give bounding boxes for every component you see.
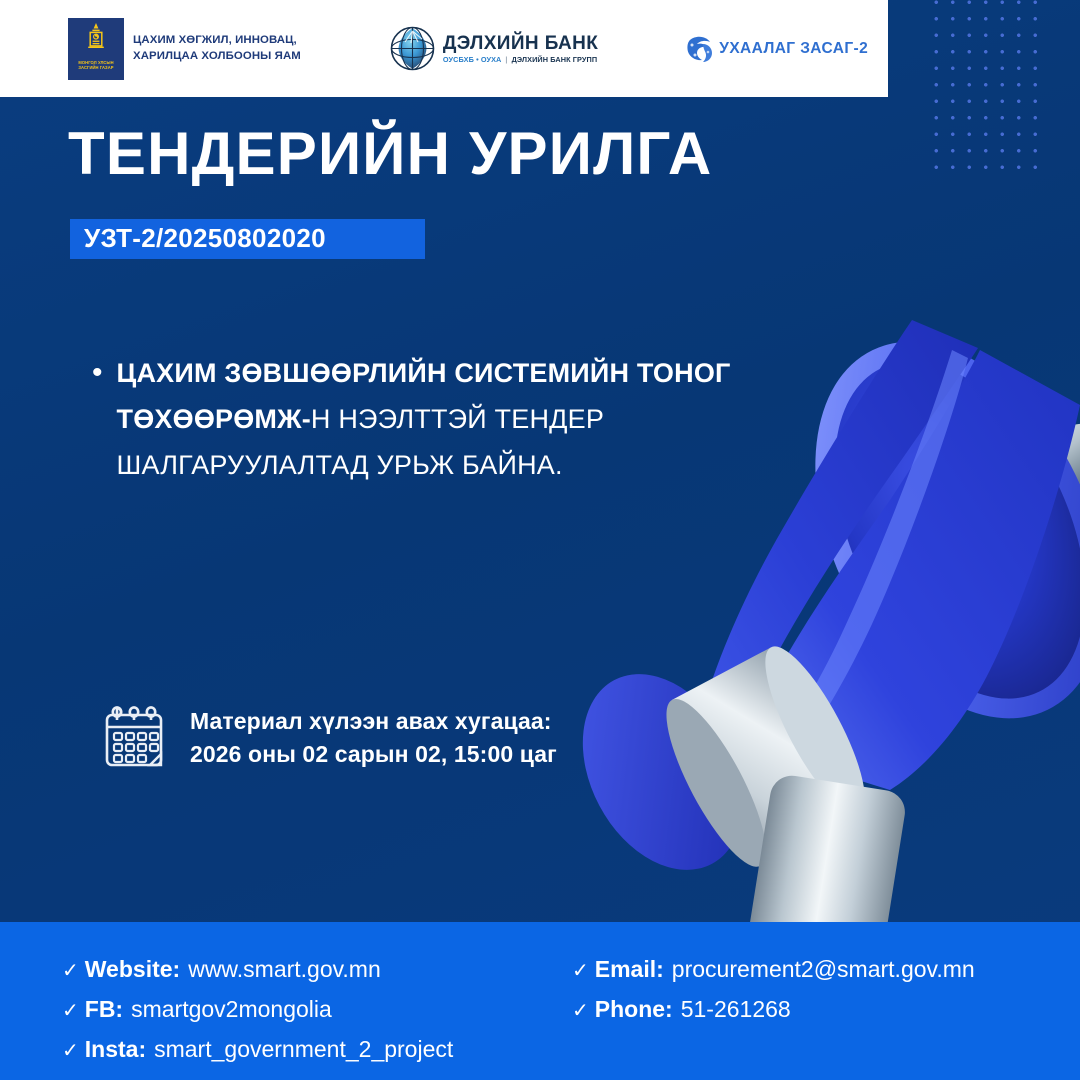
smartgov-mark-icon [682, 31, 717, 66]
tender-reference-badge: УЗТ-2/20250802020 [70, 219, 425, 259]
announcement-text: ЦАХИМ ЗӨВШӨӨРЛИЙН СИСТЕМИЙН ТОНОГ ТӨХӨӨР… [117, 350, 832, 488]
smartgov-label: УХААЛАГ ЗАСАГ-2 [719, 40, 868, 58]
email-label: Email: [595, 950, 664, 988]
check-icon: ✓ [572, 952, 589, 990]
email-value[interactable]: procurement2@smart.gov.mn [672, 950, 975, 988]
world-bank-logo: ДЭЛХИЙН БАНК ОУСБХБ • ОУХА | ДЭЛХИЙН БАН… [389, 25, 598, 72]
bullet-marker-icon: • [92, 350, 103, 488]
contact-footer: ✓ Website: www.smart.gov.mn ✓ FB: smartg… [0, 922, 1080, 1080]
footer-right-column: ✓ Email: procurement2@smart.gov.mn ✓ Pho… [572, 950, 975, 1030]
deadline-label: Материал хүлээн авах хугацаа: [190, 705, 557, 738]
world-bank-title: ДЭЛХИЙН БАНК [443, 34, 598, 54]
emblem-caption-line2: ЗАСГИЙН ГАЗАР [78, 65, 113, 70]
page-title: ТЕНДЕРИЙН УРИЛГА [68, 122, 712, 186]
soyombo-emblem-icon: МОНГОЛ УЛСЫН ЗАСГИЙН ГАЗАР [68, 18, 124, 80]
contact-row-email[interactable]: ✓ Email: procurement2@smart.gov.mn [572, 950, 975, 990]
ministry-name: ЦАХИМ ХӨГЖИЛ, ИННОВАЦ, ХАРИЛЦАА ХОЛБООНЫ… [133, 33, 301, 64]
deadline-value: 2026 оны 02 сарын 02, 15:00 цаг [190, 738, 557, 771]
emblem-caption: МОНГОЛ УЛСЫН ЗАСГИЙН ГАЗАР [78, 60, 113, 70]
facebook-value[interactable]: smartgov2mongolia [131, 990, 332, 1028]
check-icon: ✓ [62, 1032, 79, 1070]
world-bank-sub-divider: | [505, 55, 507, 64]
smart-government-2-logo: УХААЛАГ ЗАСАГ-2 [682, 31, 868, 66]
website-label: Website: [85, 950, 180, 988]
facebook-label: FB: [85, 990, 123, 1028]
world-bank-text: ДЭЛХИЙН БАНК ОУСБХБ • ОУХА | ДЭЛХИЙН БАН… [443, 34, 598, 64]
deadline-text: Материал хүлээн авах хугацаа: 2026 оны 0… [190, 705, 557, 771]
ministry-name-line2: ХАРИЛЦАА ХОЛБООНЫ ЯАМ [133, 49, 301, 65]
logo-group: МОНГОЛ УЛСЫН ЗАСГИЙН ГАЗАР ЦАХИМ ХӨГЖИЛ,… [0, 0, 868, 97]
megaphone-icon [560, 200, 1080, 940]
world-bank-subtitle: ОУСБХБ • ОУХА | ДЭЛХИЙН БАНК ГРУПП [443, 55, 598, 64]
contact-row-phone[interactable]: ✓ Phone: 51-261268 [572, 990, 975, 1030]
contact-row-facebook[interactable]: ✓ FB: smartgov2mongolia [62, 990, 453, 1030]
dot-pattern-decoration [928, 0, 1040, 176]
phone-value[interactable]: 51-261268 [681, 990, 791, 1028]
header-logo-band: МОНГОЛ УЛСЫН ЗАСГИЙН ГАЗАР ЦАХИМ ХӨГЖИЛ,… [0, 0, 888, 97]
tender-announcement-poster: МОНГОЛ УЛСЫН ЗАСГИЙН ГАЗАР ЦАХИМ ХӨГЖИЛ,… [0, 0, 1080, 1080]
ministry-name-line1: ЦАХИМ ХӨГЖИЛ, ИННОВАЦ, [133, 33, 301, 49]
phone-label: Phone: [595, 990, 673, 1028]
deadline-block: Материал хүлээн авах хугацаа: 2026 оны 0… [100, 703, 557, 773]
announcement-block: • ЦАХИМ ЗӨВШӨӨРЛИЙН СИСТЕМИЙН ТОНОГ ТӨХӨ… [92, 350, 832, 488]
footer-columns: ✓ Website: www.smart.gov.mn ✓ FB: smartg… [0, 922, 1080, 1080]
check-icon: ✓ [62, 952, 79, 990]
check-icon: ✓ [62, 992, 79, 1030]
instagram-label: Insta: [85, 1030, 146, 1068]
footer-left-column: ✓ Website: www.smart.gov.mn ✓ FB: smartg… [62, 950, 453, 1070]
contact-row-instagram[interactable]: ✓ Insta: smart_government_2_project [62, 1030, 453, 1070]
soyombo-glyph-icon [83, 22, 109, 58]
world-bank-sub-left: ОУСБХБ • ОУХА [443, 55, 502, 64]
globe-icon [389, 25, 436, 72]
instagram-value[interactable]: smart_government_2_project [154, 1030, 453, 1068]
calendar-icon [100, 703, 168, 773]
mongolia-ministry-logo: МОНГОЛ УЛСЫН ЗАСГИЙН ГАЗАР ЦАХИМ ХӨГЖИЛ,… [68, 18, 301, 80]
world-bank-sub-right: ДЭЛХИЙН БАНК ГРУПП [512, 55, 598, 64]
check-icon: ✓ [572, 992, 589, 1030]
website-value[interactable]: www.smart.gov.mn [188, 950, 381, 988]
contact-row-website[interactable]: ✓ Website: www.smart.gov.mn [62, 950, 453, 990]
